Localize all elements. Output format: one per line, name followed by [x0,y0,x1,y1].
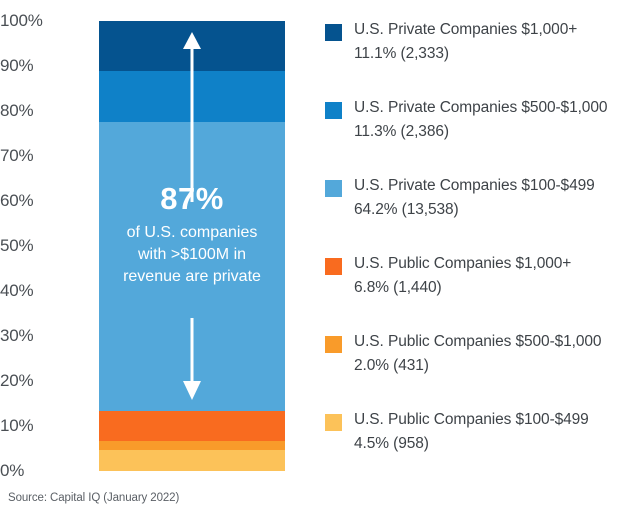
legend-text: U.S. Private Companies $100-$49964.2% (1… [354,174,626,222]
y-axis-tick: 40% [0,281,84,301]
chart-legend: U.S. Private Companies $1,000+11.1% (2,3… [325,18,625,486]
stacked-bar-chart: 100%90%80%70%60%50%40%30%20%10%0% 87% of… [0,0,630,515]
legend-value: 64.2% (13,538) [354,198,626,222]
legend-text: U.S. Private Companies $1,000+11.1% (2,3… [354,18,626,66]
bar-segment [99,122,285,411]
legend-label: U.S. Public Companies $500-$1,000 [354,330,626,354]
legend-swatch-private-1000-plus [325,24,342,41]
bar-segment [99,21,285,71]
legend-text: U.S. Public Companies $100-$4994.5% (958… [354,408,626,456]
legend-label: U.S. Private Companies $100-$499 [354,174,626,198]
legend-label: U.S. Private Companies $500-$1,000 [354,96,626,120]
source-note: Source: Capital IQ (January 2022) [8,492,179,504]
legend-label: U.S. Private Companies $1,000+ [354,18,626,42]
y-axis-tick: 60% [0,191,84,211]
bar-segment [99,441,285,450]
legend-value: 4.5% (958) [354,432,626,456]
legend-item[interactable]: U.S. Public Companies $100-$4994.5% (958… [325,408,625,486]
legend-label: U.S. Public Companies $1,000+ [354,252,626,276]
y-axis-tick: 0% [0,461,84,481]
legend-item[interactable]: U.S. Public Companies $500-$1,0002.0% (4… [325,330,625,408]
y-axis-tick: 70% [0,146,84,166]
legend-text: U.S. Public Companies $500-$1,0002.0% (4… [354,330,626,378]
legend-item[interactable]: U.S. Private Companies $100-$49964.2% (1… [325,174,625,252]
y-axis-tick: 10% [0,416,84,436]
legend-text: U.S. Private Companies $500-$1,00011.3% … [354,96,626,144]
legend-swatch-private-500-1000 [325,102,342,119]
bar-segment [99,450,285,470]
y-axis-tick: 30% [0,326,84,346]
legend-swatch-public-100-499 [325,414,342,431]
legend-item[interactable]: U.S. Private Companies $1,000+11.1% (2,3… [325,18,625,96]
y-axis: 100%90%80%70%60%50%40%30%20%10%0% [0,0,92,492]
legend-item[interactable]: U.S. Public Companies $1,000+6.8% (1,440… [325,252,625,330]
legend-label: U.S. Public Companies $100-$499 [354,408,626,432]
y-axis-tick: 50% [0,236,84,256]
bar-segment [99,71,285,122]
legend-value: 11.3% (2,386) [354,120,626,144]
legend-swatch-private-100-499 [325,180,342,197]
y-axis-tick: 80% [0,101,84,121]
legend-value: 11.1% (2,333) [354,42,626,66]
y-axis-tick: 100% [0,11,84,31]
bar-segment [99,411,285,442]
legend-swatch-public-500-1000 [325,336,342,353]
y-axis-tick: 20% [0,371,84,391]
legend-swatch-public-1000-plus [325,258,342,275]
stacked-bar [99,21,285,471]
legend-item[interactable]: U.S. Private Companies $500-$1,00011.3% … [325,96,625,174]
legend-value: 2.0% (431) [354,354,626,378]
legend-text: U.S. Public Companies $1,000+6.8% (1,440… [354,252,626,300]
legend-value: 6.8% (1,440) [354,276,626,300]
y-axis-tick: 90% [0,56,84,76]
